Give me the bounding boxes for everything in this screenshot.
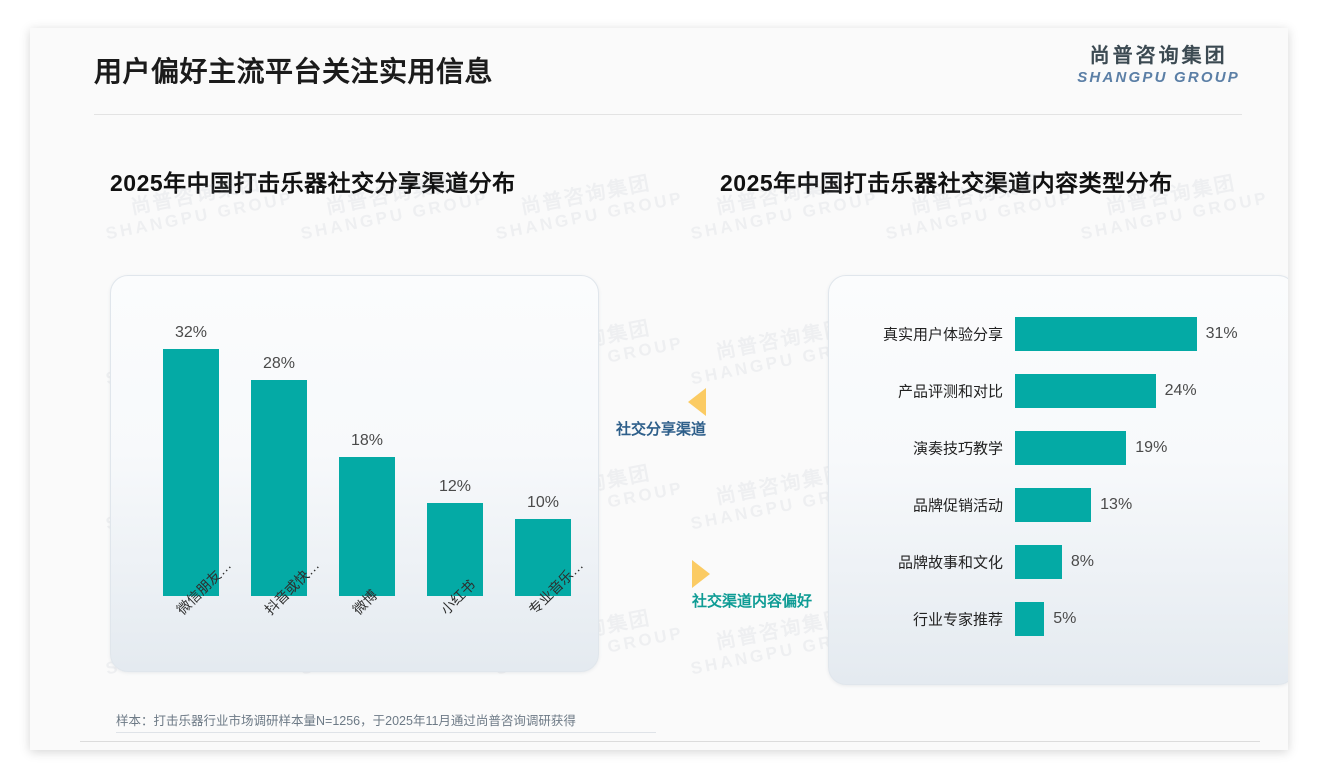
bar-group[interactable]: 32%微信朋友… bbox=[163, 349, 219, 596]
bar-row[interactable]: 行业专家推荐5% bbox=[1015, 602, 1220, 636]
logo-english-text: SHANGPU GROUP bbox=[1077, 68, 1240, 88]
watermark-text: 尚普咨询集团SHANGPU GROUP bbox=[490, 167, 686, 245]
bar[interactable] bbox=[339, 457, 395, 596]
triangle-right-icon bbox=[692, 560, 710, 588]
footer-website: www.shangpu-china.com bbox=[1093, 749, 1238, 750]
connector-social-share-channel: 社交分享渠道 bbox=[616, 388, 706, 439]
bar-category-label: 行业专家推荐 bbox=[913, 609, 1003, 630]
bar[interactable] bbox=[427, 503, 483, 596]
bar[interactable] bbox=[251, 380, 307, 596]
bar-value-label: 28% bbox=[263, 355, 295, 373]
bar-value-label: 18% bbox=[351, 432, 383, 450]
bar-value-label: 24% bbox=[1165, 382, 1197, 400]
right-chart-title: 2025年中国打击乐器社交渠道内容类型分布 bbox=[720, 164, 1173, 198]
bar-group[interactable]: 12%小红书 bbox=[427, 503, 483, 596]
bar-group[interactable]: 18%微博 bbox=[339, 457, 395, 596]
footer-divider bbox=[80, 741, 1260, 742]
title-divider bbox=[94, 114, 1242, 115]
bar-category-label: 品牌故事和文化 bbox=[898, 552, 1003, 573]
bar-value-label: 19% bbox=[1135, 439, 1167, 457]
bar-category-label: 产品评测和对比 bbox=[898, 381, 1003, 402]
bar-group[interactable]: 28%抖音或快… bbox=[251, 380, 307, 596]
sample-note: 样本：打击乐器行业市场调研样本量N=1256，于2025年11月通过尚普咨询调研… bbox=[116, 710, 576, 729]
bar[interactable] bbox=[1015, 374, 1156, 408]
bar-value-label: 13% bbox=[1100, 496, 1132, 514]
vertical-bar-chart: 32%微信朋友…28%抖音或快…18%微博12%小红书10%专业音乐… bbox=[111, 276, 598, 671]
bar-row[interactable]: 演奏技巧教学19% bbox=[1015, 431, 1220, 465]
sample-divider bbox=[116, 732, 656, 733]
bar[interactable] bbox=[1015, 431, 1126, 465]
bar-value-label: 32% bbox=[175, 324, 207, 342]
connector-content-preference: 社交渠道内容偏好 bbox=[692, 560, 812, 611]
right-chart-card: 真实用户体验分享31%产品评测和对比24%演奏技巧教学19%品牌促销活动13%品… bbox=[828, 275, 1288, 685]
horizontal-bar-chart: 真实用户体验分享31%产品评测和对比24%演奏技巧教学19%品牌促销活动13%品… bbox=[829, 276, 1288, 684]
bar-row[interactable]: 品牌故事和文化8% bbox=[1015, 545, 1220, 579]
bar-category-label: 品牌促销活动 bbox=[913, 495, 1003, 516]
connector-share-label: 社交分享渠道 bbox=[616, 418, 706, 439]
footer-copyright: ©2026.1 SHANGPU GROUP bbox=[80, 749, 248, 750]
logo-chinese-text: 尚普咨询集团 bbox=[1077, 44, 1240, 68]
bar-value-label: 31% bbox=[1206, 325, 1238, 343]
bar-category-label: 真实用户体验分享 bbox=[883, 324, 1003, 345]
triangle-left-icon bbox=[688, 388, 706, 416]
bar-value-label: 5% bbox=[1053, 610, 1076, 628]
bar-row[interactable]: 产品评测和对比24% bbox=[1015, 374, 1220, 408]
bar-row[interactable]: 品牌促销活动13% bbox=[1015, 488, 1220, 522]
bar[interactable] bbox=[1015, 545, 1062, 579]
bar-category-label: 演奏技巧教学 bbox=[913, 438, 1003, 459]
connector-content-label: 社交渠道内容偏好 bbox=[692, 590, 812, 611]
left-chart-card: 32%微信朋友…28%抖音或快…18%微博12%小红书10%专业音乐… bbox=[110, 275, 599, 672]
company-logo: 尚普咨询集团 SHANGPU GROUP bbox=[1077, 44, 1240, 88]
bar[interactable] bbox=[163, 349, 219, 596]
page-title: 用户偏好主流平台关注实用信息 bbox=[94, 50, 493, 90]
slide-header: 用户偏好主流平台关注实用信息 尚普咨询集团 SHANGPU GROUP bbox=[30, 28, 1288, 114]
bar-group[interactable]: 10%专业音乐… bbox=[515, 519, 571, 596]
bar[interactable] bbox=[1015, 488, 1091, 522]
slide: 用户偏好主流平台关注实用信息 尚普咨询集团 SHANGPU GROUP 2025… bbox=[30, 28, 1288, 750]
bar[interactable] bbox=[1015, 317, 1197, 351]
bar-value-label: 8% bbox=[1071, 553, 1094, 571]
left-chart-title: 2025年中国打击乐器社交分享渠道分布 bbox=[110, 164, 516, 198]
bar-row[interactable]: 真实用户体验分享31% bbox=[1015, 317, 1220, 351]
bar[interactable] bbox=[1015, 602, 1044, 636]
bar-value-label: 10% bbox=[527, 494, 559, 512]
bar-value-label: 12% bbox=[439, 478, 471, 496]
